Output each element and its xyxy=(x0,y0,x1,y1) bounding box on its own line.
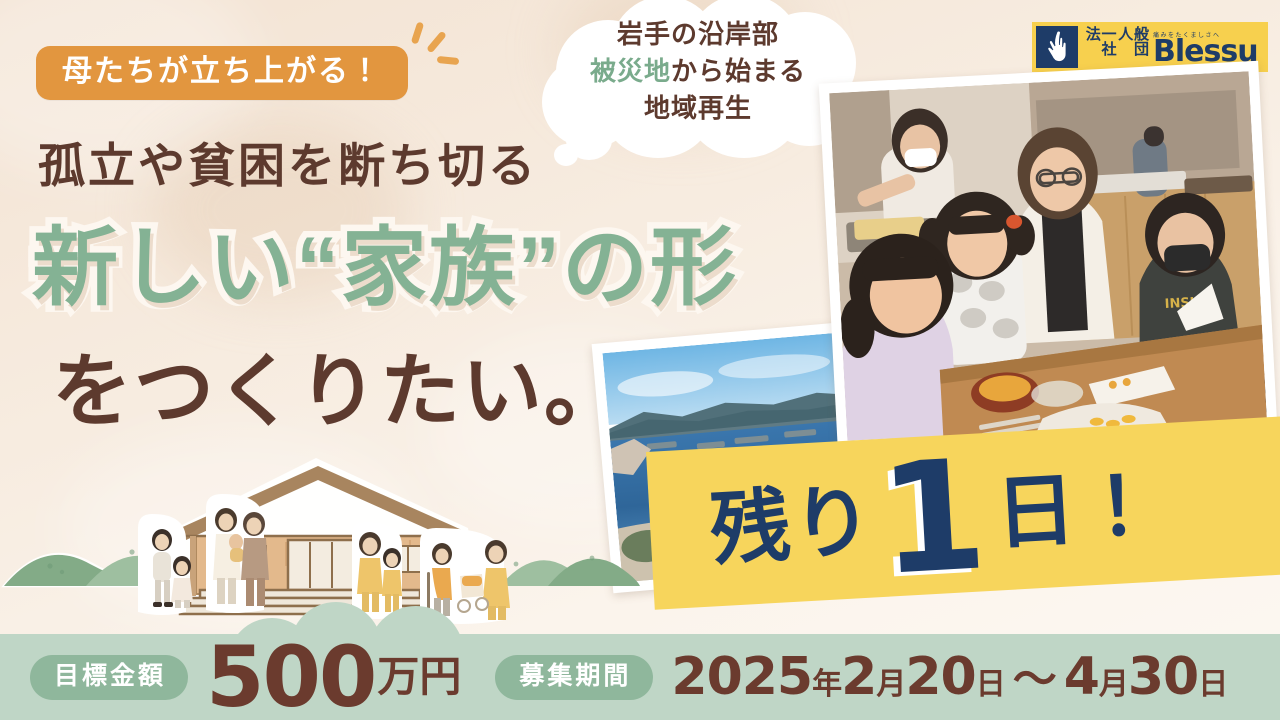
bubble-tail xyxy=(554,144,578,166)
period-separator: 〜 xyxy=(1013,654,1056,705)
countdown-suffix: 日！ xyxy=(994,465,1162,554)
campaign-period-value: 2025年2月20日〜4月30日 xyxy=(671,651,1227,703)
period-month-unit: 月 xyxy=(876,667,905,702)
campaign-banner: 母たちが立ち上がる！ 孤立や貧困を断ち切る 新しい“家族”の形 をつくりたい。 … xyxy=(0,0,1280,720)
period-year-unit: 年 xyxy=(812,667,841,702)
goal-amount-block: 目標金額 500 万円 xyxy=(30,643,461,712)
sparkle-icon xyxy=(411,21,424,44)
community-meal-photo: INSHU xyxy=(819,61,1278,452)
goal-amount-label: 目標金額 xyxy=(30,655,188,700)
bubble-line-2: 被災地から始まる xyxy=(536,53,860,90)
bubble-line-3: 地域再生 xyxy=(536,90,860,127)
logo-kanji-right: 一社法 xyxy=(1084,26,1116,68)
period-start-month: 2 xyxy=(841,647,876,707)
countdown-text: 残り 1 日！ xyxy=(707,436,1164,601)
bubble-line-2-rest: から始まる xyxy=(671,56,806,86)
community-meal-photo-image: INSHU xyxy=(829,71,1267,441)
goal-amount-value: 500 xyxy=(206,643,375,712)
logo-wordmark-block: 痛みをたくましさへ Blessu xyxy=(1153,30,1258,65)
period-end-month-unit: 月 xyxy=(1099,667,1128,702)
countdown-prefix: 残り xyxy=(708,481,876,570)
period-end-day: 30 xyxy=(1128,647,1198,707)
campaign-period-label: 募集期間 xyxy=(495,655,653,700)
footer-content: 目標金額 500 万円 募集期間 2025年2月20日〜4月30日 xyxy=(0,634,1280,720)
logo-kanji-left: 般団人 xyxy=(1117,26,1149,68)
logo-kanji-block: 一社法 般団人 xyxy=(1084,26,1148,68)
period-start-day: 20 xyxy=(905,647,975,707)
main-headline: 新しい“家族”の形 xyxy=(32,222,738,315)
campaign-period-block: 募集期間 2025年2月20日〜4月30日 xyxy=(495,651,1227,703)
hand-emblem-icon xyxy=(1036,26,1078,68)
headline-tail: をつくりたい。 xyxy=(52,352,626,432)
sparkle-icon xyxy=(437,56,460,65)
countdown-number: 1 xyxy=(876,445,989,591)
sub-headline: 孤立や貧困を断ち切る xyxy=(38,142,538,189)
bubble-line-2-highlight: 被災地 xyxy=(590,56,671,86)
bubble-text: 岩手の沿岸部 被災地から始まる 地域再生 xyxy=(536,16,860,127)
period-end-day-unit: 日 xyxy=(1198,667,1227,702)
speech-bubble: 岩手の沿岸部 被災地から始まる 地域再生 xyxy=(536,0,860,170)
bubble-line-1: 岩手の沿岸部 xyxy=(536,16,860,53)
period-year: 2025 xyxy=(671,647,812,707)
period-end-month: 4 xyxy=(1064,647,1099,707)
tagline-badge: 母たちが立ち上がる！ xyxy=(36,46,408,100)
logo-wordmark: Blessu xyxy=(1153,38,1258,65)
goal-amount-unit: 万円 xyxy=(377,656,461,698)
sparkle-icon xyxy=(426,31,447,54)
period-day-unit: 日 xyxy=(976,667,1005,702)
